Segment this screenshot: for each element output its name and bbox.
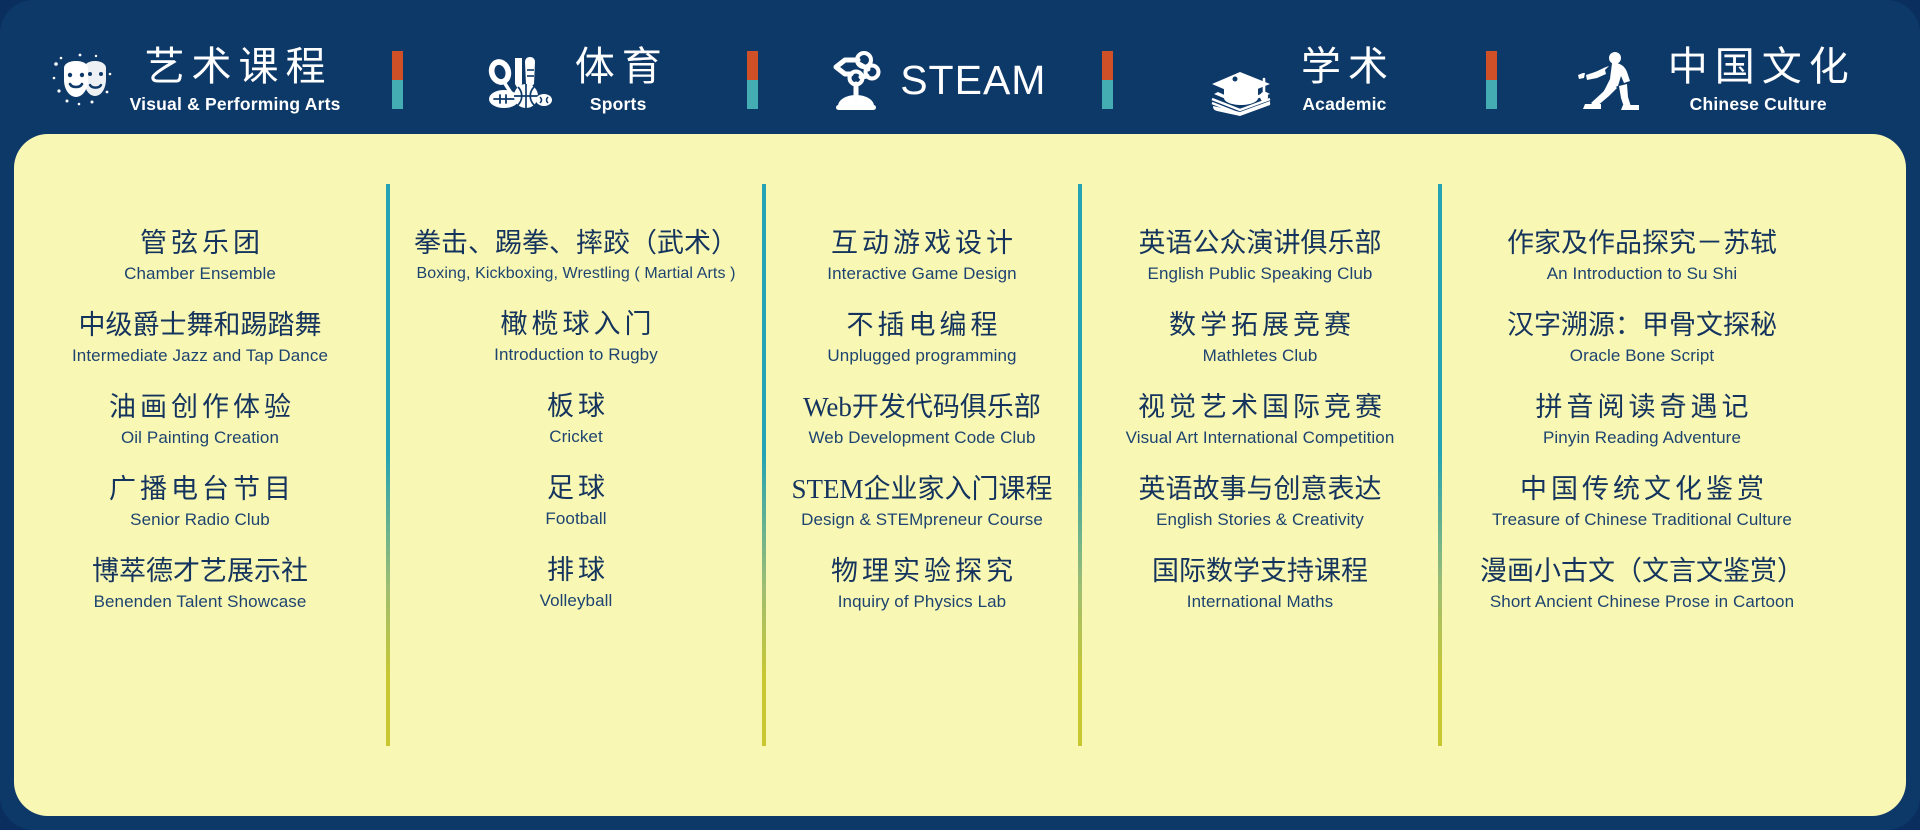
course-title-en: Mathletes Club [1082, 347, 1438, 366]
course-title-zh: 板球 [390, 391, 762, 421]
course-item[interactable]: 拳击、踢拳、摔跤（武术） Boxing, Kickboxing, Wrestli… [390, 228, 762, 283]
course-item[interactable]: 博萃德才艺展示社 Benenden Talent Showcase [14, 556, 386, 612]
header-divider-bar-1 [392, 51, 403, 109]
course-title-en: Chamber Ensemble [14, 265, 386, 284]
course-title-en: Unplugged programming [766, 347, 1078, 366]
course-item[interactable]: 视觉艺术国际竞赛 Visual Art International Compet… [1082, 392, 1438, 448]
course-title-en: Short Ancient Chinese Prose in Cartoon [1442, 593, 1842, 612]
divider-segment-teal [747, 80, 758, 109]
header-category-label-en: Sports [590, 96, 647, 114]
course-title-en: Football [390, 510, 762, 529]
course-item[interactable]: Web开发代码俱乐部 Web Development Code Club [766, 392, 1078, 448]
course-column-academic: 英语公众演讲俱乐部 English Public Speaking Club 数… [1082, 172, 1438, 772]
course-column-steam: 互动游戏设计 Interactive Game Design 不插电编程 Unp… [766, 172, 1078, 772]
course-title-en: Design & STEMpreneur Course [766, 511, 1078, 530]
header-category-steam[interactable]: STEAM [790, 25, 1070, 135]
header-category-label-zh: STEAM [900, 60, 1046, 101]
course-title-zh: 中级爵士舞和踢踏舞 [14, 310, 386, 340]
theatre-masks-icon [44, 44, 116, 116]
course-title-zh: 数学拓展竞赛 [1082, 310, 1438, 340]
divider-segment-teal [1102, 80, 1113, 109]
course-item[interactable]: 橄榄球入门 Introduction to Rugby [390, 309, 762, 365]
robot-arm-icon [814, 44, 886, 116]
course-title-zh: 排球 [390, 555, 762, 585]
course-title-en: Benenden Talent Showcase [14, 593, 386, 612]
course-title-zh: 作家及作品探究－苏轼 [1442, 228, 1842, 258]
course-item[interactable]: 中国传统文化鉴赏 Treasure of Chinese Traditional… [1442, 474, 1842, 530]
course-title-zh: 国际数学支持课程 [1082, 556, 1438, 586]
course-title-zh: 拳击、踢拳、摔跤（武术） [390, 228, 762, 258]
course-title-zh: 漫画小古文（文言文鉴赏） [1442, 556, 1842, 586]
course-title-zh: 足球 [390, 473, 762, 503]
header-category-chinese-culture[interactable]: 中国文化 Chinese Culture [1529, 25, 1902, 135]
course-title-zh: 橄榄球入门 [390, 309, 762, 339]
divider-segment-orange [392, 51, 403, 80]
course-title-en: Inquiry of Physics Lab [766, 593, 1078, 612]
graduation-cap-books-icon [1204, 44, 1280, 116]
course-title-en: An Introduction to Su Shi [1442, 265, 1842, 284]
header-divider-bar-4 [1486, 51, 1497, 109]
course-title-en: English Stories & Creativity [1082, 511, 1438, 530]
divider-segment-teal [1486, 80, 1497, 109]
course-title-en: Interactive Game Design [766, 265, 1078, 284]
header-category-visual-performing-arts[interactable]: 艺术课程 Visual & Performing Arts [24, 25, 360, 135]
course-title-en: Treasure of Chinese Traditional Culture [1442, 511, 1842, 530]
course-item[interactable]: 汉字溯源：甲骨文探秘 Oracle Bone Script [1442, 310, 1842, 366]
divider-segment-orange [747, 51, 758, 80]
course-title-en: Pinyin Reading Adventure [1442, 429, 1842, 448]
course-title-en: Boxing, Kickboxing, Wrestling ( Martial … [390, 265, 762, 283]
header-category-label-en: Chinese Culture [1690, 96, 1827, 114]
martial-arts-figure-icon [1575, 44, 1647, 116]
course-column-chinese-culture: 作家及作品探究－苏轼 An Introduction to Su Shi 汉字溯… [1442, 172, 1842, 772]
course-title-zh: STEM企业家入门课程 [766, 474, 1078, 504]
header-category-label-zh: 学术 [1294, 47, 1395, 87]
header-category-label-zh: 艺术课程 [138, 47, 333, 87]
course-catalogue-poster: 艺术课程 Visual & Performing Arts [0, 0, 1920, 830]
course-title-en: Visual Art International Competition [1082, 429, 1438, 448]
course-title-en: Volleyball [390, 592, 762, 611]
header-category-label-en: Academic [1302, 96, 1386, 114]
course-title-zh: 油画创作体验 [14, 392, 386, 422]
course-column-visual-performing-arts: 管弦乐团 Chamber Ensemble 中级爵士舞和踢踏舞 Intermed… [14, 172, 386, 772]
course-item[interactable]: 物理实验探究 Inquiry of Physics Lab [766, 556, 1078, 612]
header-category-sports[interactable]: 体育 Sports [435, 25, 715, 135]
course-title-en: Cricket [390, 428, 762, 447]
divider-segment-teal [392, 80, 403, 109]
header-category-label-en: Visual & Performing Arts [130, 96, 341, 114]
course-item[interactable]: 油画创作体验 Oil Painting Creation [14, 392, 386, 448]
course-title-zh: 视觉艺术国际竞赛 [1082, 392, 1438, 422]
course-item[interactable]: 作家及作品探究－苏轼 An Introduction to Su Shi [1442, 228, 1842, 284]
course-item[interactable]: 国际数学支持课程 International Maths [1082, 556, 1438, 612]
course-title-zh: 物理实验探究 [766, 556, 1078, 586]
divider-segment-orange [1102, 51, 1113, 80]
course-item[interactable]: 拼音阅读奇遇记 Pinyin Reading Adventure [1442, 392, 1842, 448]
course-title-zh: 中国传统文化鉴赏 [1442, 474, 1842, 504]
course-title-en: Oracle Bone Script [1442, 347, 1842, 366]
course-title-zh: 拼音阅读奇遇记 [1442, 392, 1842, 422]
course-title-zh: 博萃德才艺展示社 [14, 556, 386, 586]
course-title-en: Web Development Code Club [766, 429, 1078, 448]
course-item[interactable]: 英语公众演讲俱乐部 English Public Speaking Club [1082, 228, 1438, 284]
course-item[interactable]: 管弦乐团 Chamber Ensemble [14, 228, 386, 284]
header-category-label-zh: 中国文化 [1661, 47, 1856, 87]
course-title-en: Senior Radio Club [14, 511, 386, 530]
course-item[interactable]: 足球 Football [390, 473, 762, 529]
header-divider-bar-3 [1102, 51, 1113, 109]
course-title-en: Intermediate Jazz and Tap Dance [14, 347, 386, 366]
divider-segment-orange [1486, 51, 1497, 80]
course-item[interactable]: 不插电编程 Unplugged programming [766, 310, 1078, 366]
course-title-en: International Maths [1082, 593, 1438, 612]
course-column-sports: 拳击、踢拳、摔跤（武术） Boxing, Kickboxing, Wrestli… [390, 172, 762, 772]
course-item[interactable]: 广播电台节目 Senior Radio Club [14, 474, 386, 530]
course-item[interactable]: 板球 Cricket [390, 391, 762, 447]
course-title-zh: 汉字溯源：甲骨文探秘 [1442, 310, 1842, 340]
header-category-academic[interactable]: 学术 Academic [1145, 25, 1453, 135]
course-title-zh: 互动游戏设计 [766, 228, 1078, 258]
course-title-zh: 管弦乐团 [14, 228, 386, 258]
course-title-zh: 英语公众演讲俱乐部 [1082, 228, 1438, 258]
course-title-zh: 英语故事与创意表达 [1082, 474, 1438, 504]
header-category-label-zh: 体育 [568, 47, 669, 87]
course-item[interactable]: 排球 Volleyball [390, 555, 762, 611]
course-item[interactable]: 中级爵士舞和踢踏舞 Intermediate Jazz and Tap Danc… [14, 310, 386, 366]
course-item[interactable]: STEM企业家入门课程 Design & STEMpreneur Course [766, 474, 1078, 530]
course-title-zh: 广播电台节目 [14, 474, 386, 504]
sports-equipment-icon [482, 44, 554, 116]
course-item[interactable]: 互动游戏设计 Interactive Game Design [766, 228, 1078, 284]
course-item[interactable]: 漫画小古文（文言文鉴赏） Short Ancient Chinese Prose… [1442, 556, 1842, 612]
course-item[interactable]: 数学拓展竞赛 Mathletes Club [1082, 310, 1438, 366]
course-title-en: English Public Speaking Club [1082, 265, 1438, 284]
course-list-panel: 管弦乐团 Chamber Ensemble 中级爵士舞和踢踏舞 Intermed… [14, 134, 1906, 816]
course-title-en: Introduction to Rugby [390, 346, 762, 365]
header-divider-bar-2 [747, 51, 758, 109]
course-title-zh: Web开发代码俱乐部 [766, 392, 1078, 422]
course-title-en: Oil Painting Creation [14, 429, 386, 448]
course-item[interactable]: 英语故事与创意表达 English Stories & Creativity [1082, 474, 1438, 530]
course-title-zh: 不插电编程 [766, 310, 1078, 340]
